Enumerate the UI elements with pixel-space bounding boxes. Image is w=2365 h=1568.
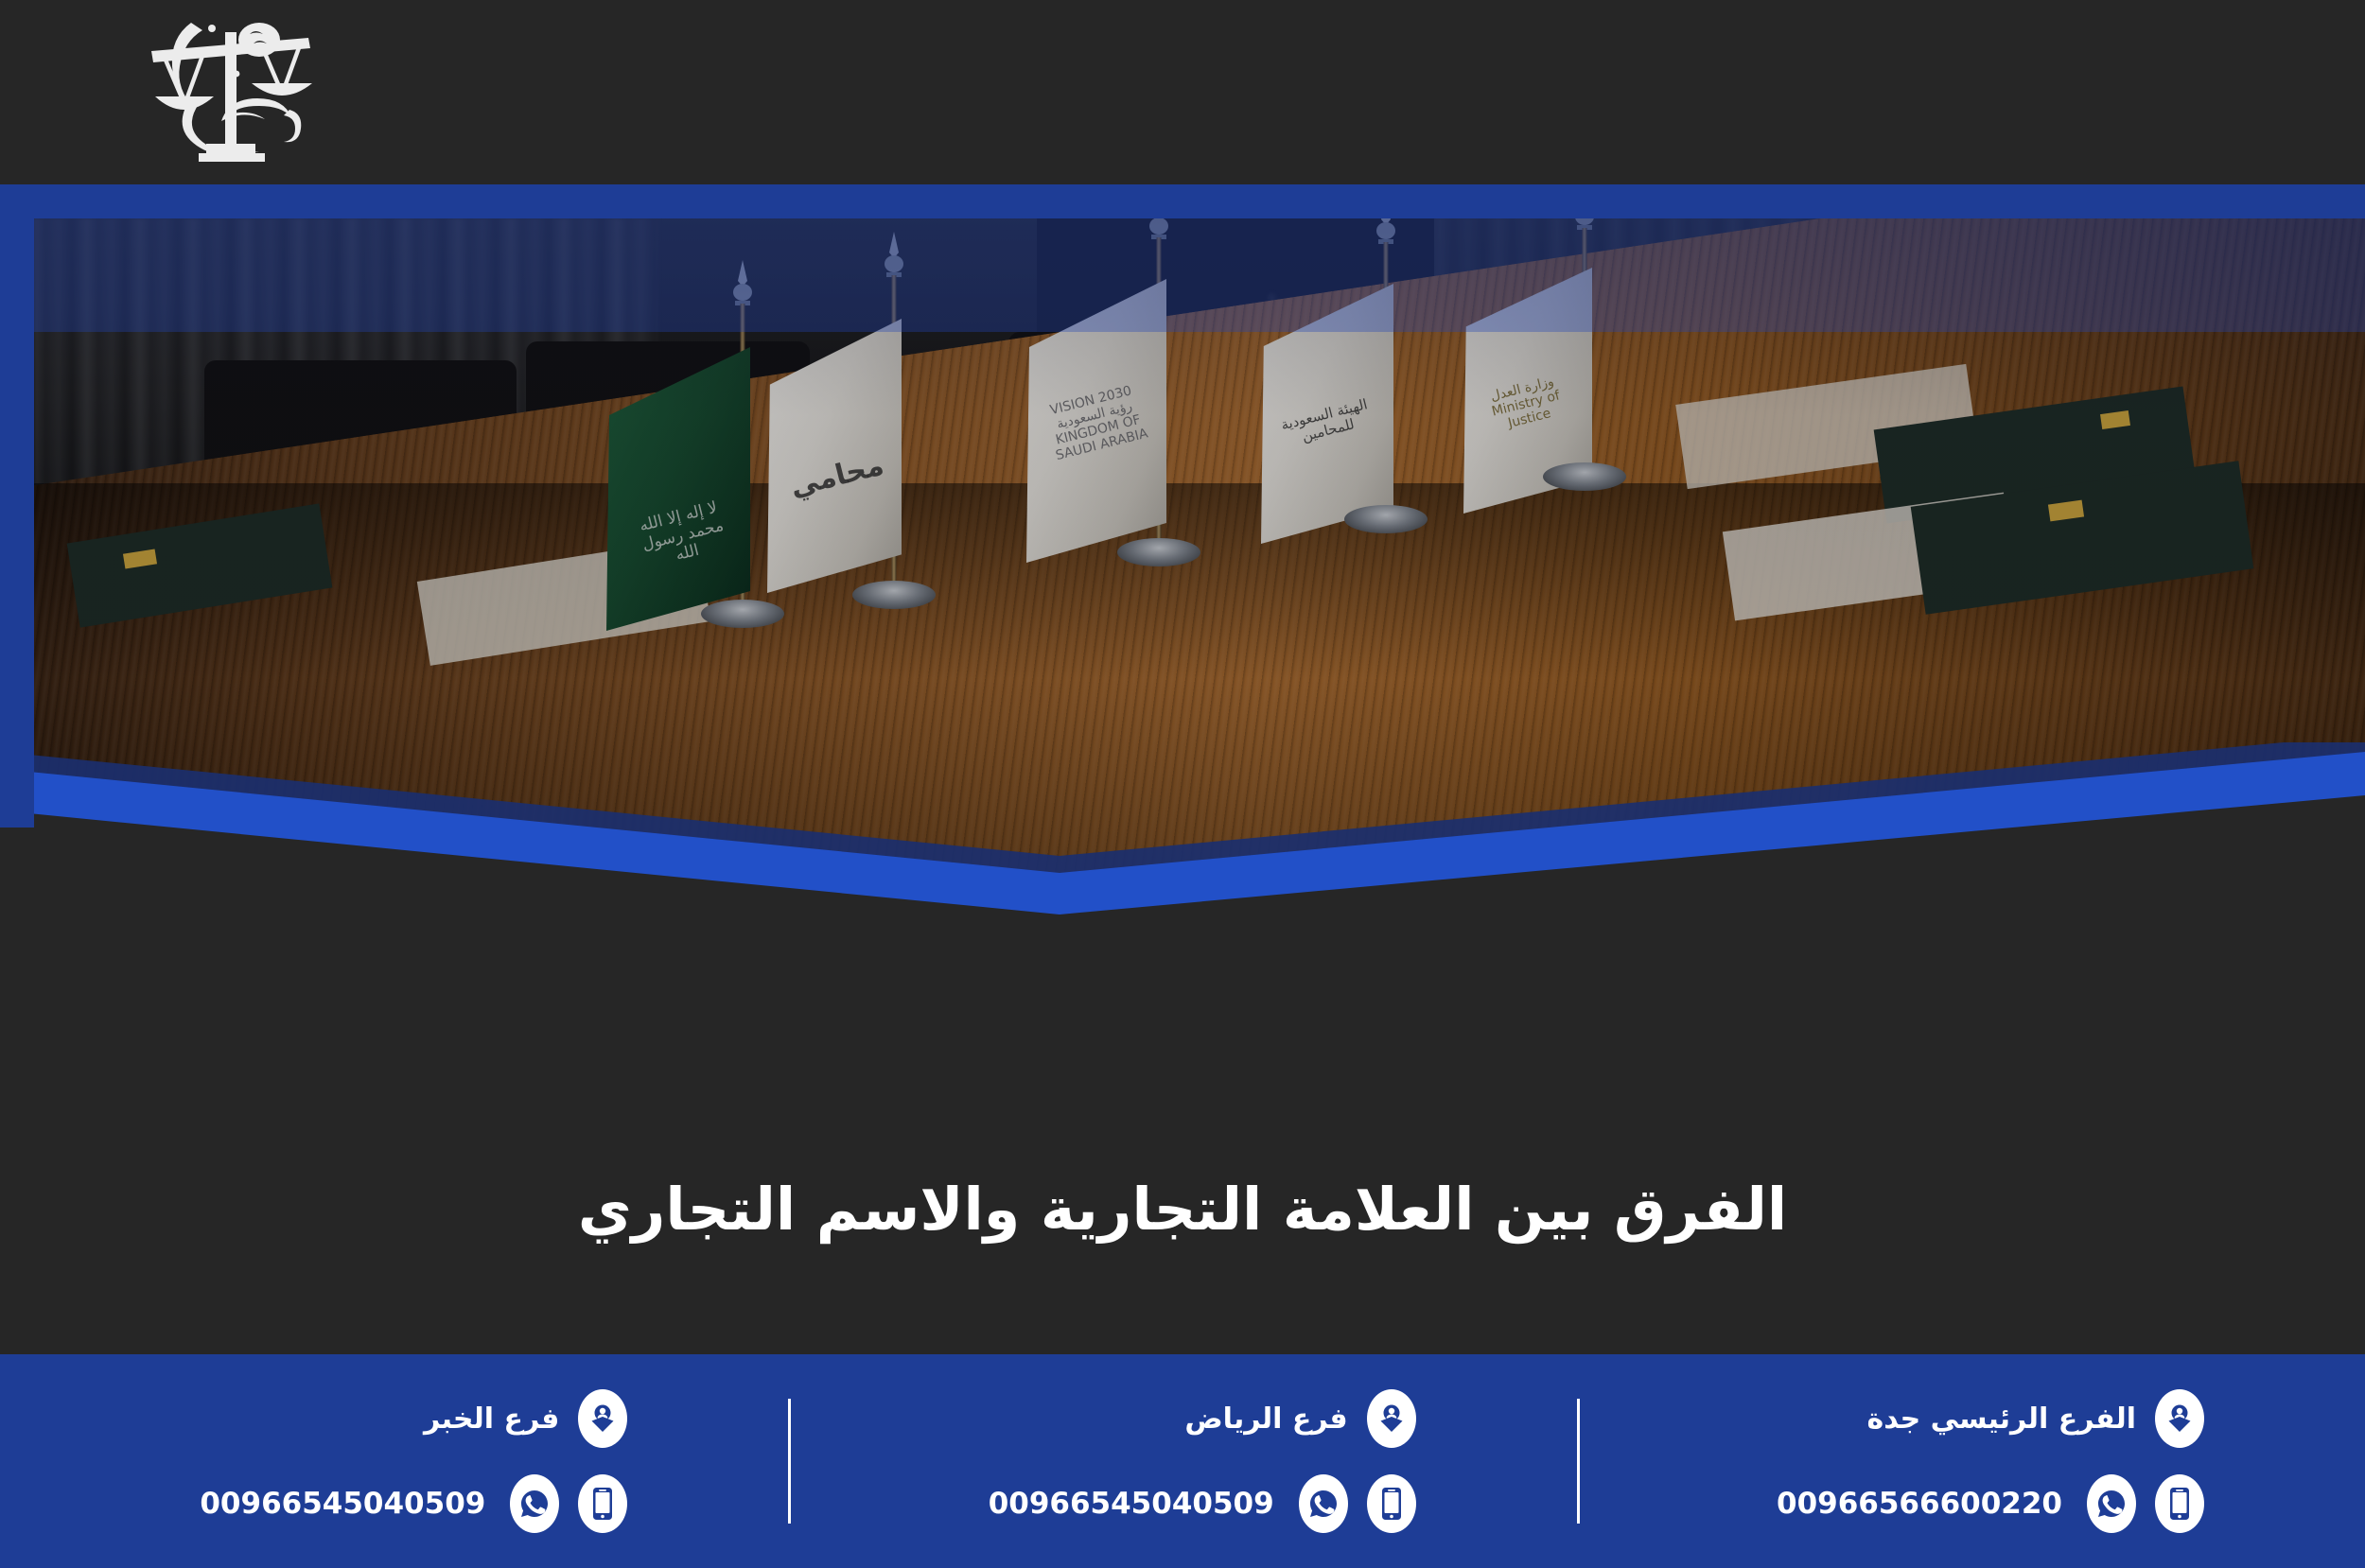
- mobile-phone-icon[interactable]: [2155, 1474, 2204, 1533]
- branch-phone[interactable]: 00966545040509: [200, 1487, 485, 1521]
- top-bar: [0, 0, 2365, 184]
- brand-logo[interactable]: [123, 9, 341, 175]
- branch-name: فرع الخبر: [424, 1402, 559, 1436]
- contact-footer: الفرع الرئيسي جدة 00966566600220: [0, 1354, 2365, 1568]
- hero-banner: لا إله إلا اللهمحمد رسول الله محامي: [0, 184, 2365, 1064]
- branch-label-row: الفرع الرئيسي جدة: [1867, 1389, 2204, 1448]
- location-pin-icon[interactable]: [2155, 1389, 2204, 1448]
- location-pin-icon[interactable]: [578, 1389, 627, 1448]
- branch-name: الفرع الرئيسي جدة: [1867, 1402, 2136, 1436]
- whatsapp-icon[interactable]: [1299, 1474, 1348, 1533]
- branch-contact-row: 00966545040509: [989, 1474, 1416, 1533]
- scales-of-justice-arabic-calligraphy-logo-icon: [123, 9, 341, 175]
- mobile-phone-icon[interactable]: [578, 1474, 627, 1533]
- branch-label-row: فرع الخبر: [424, 1389, 627, 1448]
- location-pin-icon[interactable]: [1367, 1389, 1416, 1448]
- footer-branch-jeddah[interactable]: الفرع الرئيسي جدة 00966566600220: [1577, 1354, 2365, 1568]
- hero-blue-rule: [0, 184, 2365, 218]
- whatsapp-icon[interactable]: [510, 1474, 559, 1533]
- branch-name: فرع الرياض: [1184, 1402, 1347, 1436]
- whatsapp-icon[interactable]: [2087, 1474, 2136, 1533]
- photo-blue-wash-overlay: [34, 218, 2365, 332]
- hero-frame-left-edge: [0, 714, 34, 828]
- footer-branch-khobar[interactable]: فرع الخبر 00966545040509: [0, 1354, 788, 1568]
- mobile-phone-icon[interactable]: [1367, 1474, 1416, 1533]
- branch-contact-row: 00966566600220: [1777, 1474, 2204, 1533]
- footer-branch-riyadh[interactable]: فرع الرياض 00966545040509: [788, 1354, 1576, 1568]
- branch-contact-row: 00966545040509: [200, 1474, 627, 1533]
- branch-label-row: فرع الرياض: [1184, 1389, 1415, 1448]
- article-title-zone: الفرق بين العلامة التجارية والاسم التجار…: [0, 1064, 2365, 1354]
- branch-phone[interactable]: 00966545040509: [989, 1487, 1274, 1521]
- page-title: الفرق بين العلامة التجارية والاسم التجار…: [578, 1175, 1787, 1244]
- branch-phone[interactable]: 00966566600220: [1777, 1487, 2062, 1521]
